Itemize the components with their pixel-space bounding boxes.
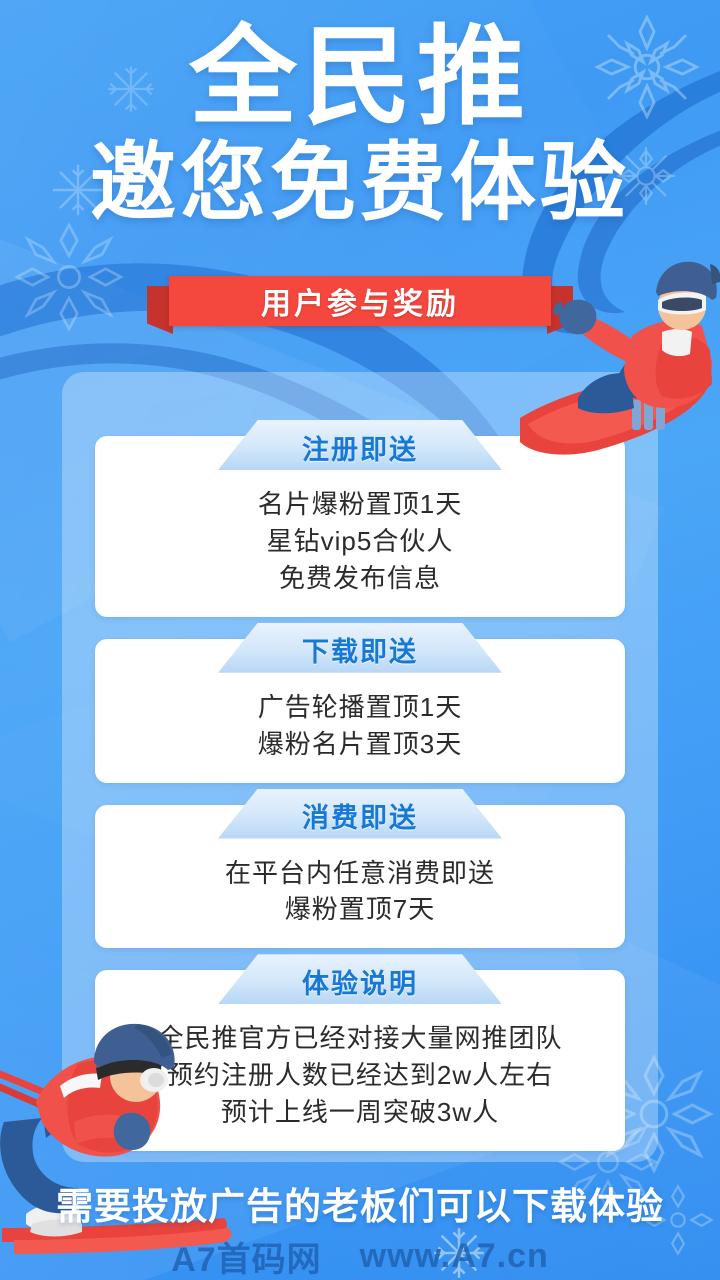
card-line: 预计上线一周突破3w人	[115, 1094, 605, 1131]
card-line: 在平台内任意消费即送	[115, 855, 605, 892]
card-line: 星钻vip5合伙人	[115, 523, 605, 560]
reward-card: 体验说明 全民推官方已经对接大量网推团队 预约注册人数已经达到2w人左右 预计上…	[95, 970, 625, 1151]
ribbon-body: 用户参与奖励	[169, 276, 551, 326]
card-line: 全民推官方已经对接大量网推团队	[115, 1020, 605, 1057]
poster-headline: 全民推 邀您免费体验	[0, 22, 720, 228]
card-tab-label: 注册即送	[302, 428, 418, 467]
watermark-site-name: A7首码网	[171, 1232, 321, 1280]
card-line: 预约注册人数已经达到2w人左右	[115, 1057, 605, 1094]
card-tab-label: 消费即送	[302, 796, 418, 835]
card-body: 名片爆粉置顶1天 星钻vip5合伙人 免费发布信息	[115, 486, 605, 597]
card-line: 免费发布信息	[115, 560, 605, 597]
card-body: 在平台内任意消费即送 爆粉置顶7天	[115, 855, 605, 929]
card-tab-label: 下载即送	[302, 630, 418, 669]
reward-ribbon-banner: 用户参与奖励	[0, 276, 720, 326]
card-tab-header: 注册即送	[218, 420, 502, 470]
ribbon-tail-right	[547, 286, 573, 334]
reward-card: 下载即送 广告轮播置顶1天 爆粉名片置顶3天	[95, 639, 625, 783]
ribbon-label: 用户参与奖励	[261, 279, 459, 323]
card-body: 广告轮播置顶1天 爆粉名片置顶3天	[115, 689, 605, 763]
headline-line-1: 全民推	[0, 22, 720, 132]
reward-card: 注册即送 名片爆粉置顶1天 星钻vip5合伙人 免费发布信息	[95, 436, 625, 617]
snowflake-icon	[428, 1222, 490, 1280]
card-line: 爆粉名片置顶3天	[115, 726, 605, 763]
card-body: 全民推官方已经对接大量网推团队 预约注册人数已经达到2w人左右 预计上线一周突破…	[115, 1020, 605, 1131]
reward-card: 消费即送 在平台内任意消费即送 爆粉置顶7天	[95, 805, 625, 949]
card-line: 广告轮播置顶1天	[115, 689, 605, 726]
promotional-poster: 全民推 邀您免费体验 用户参与奖励	[0, 0, 720, 1280]
card-line: 名片爆粉置顶1天	[115, 486, 605, 523]
card-tab-label: 体验说明	[302, 962, 418, 1001]
reward-cards-list: 注册即送 名片爆粉置顶1天 星钻vip5合伙人 免费发布信息 下载即送 广告轮播…	[95, 436, 625, 1173]
site-watermark: A7首码网 www.A7.cn	[0, 1232, 720, 1280]
watermark-site-url: www.A7.cn	[360, 1237, 549, 1276]
card-tab-header: 下载即送	[218, 623, 502, 673]
card-line: 爆粉置顶7天	[115, 891, 605, 928]
headline-line-2: 邀您免费体验	[0, 138, 720, 228]
card-tab-header: 消费即送	[218, 789, 502, 839]
bottom-callout-text: 需要投放广告的老板们可以下载体验	[0, 1176, 720, 1230]
card-tab-header: 体验说明	[218, 954, 502, 1004]
ribbon-tail-left	[147, 286, 173, 334]
